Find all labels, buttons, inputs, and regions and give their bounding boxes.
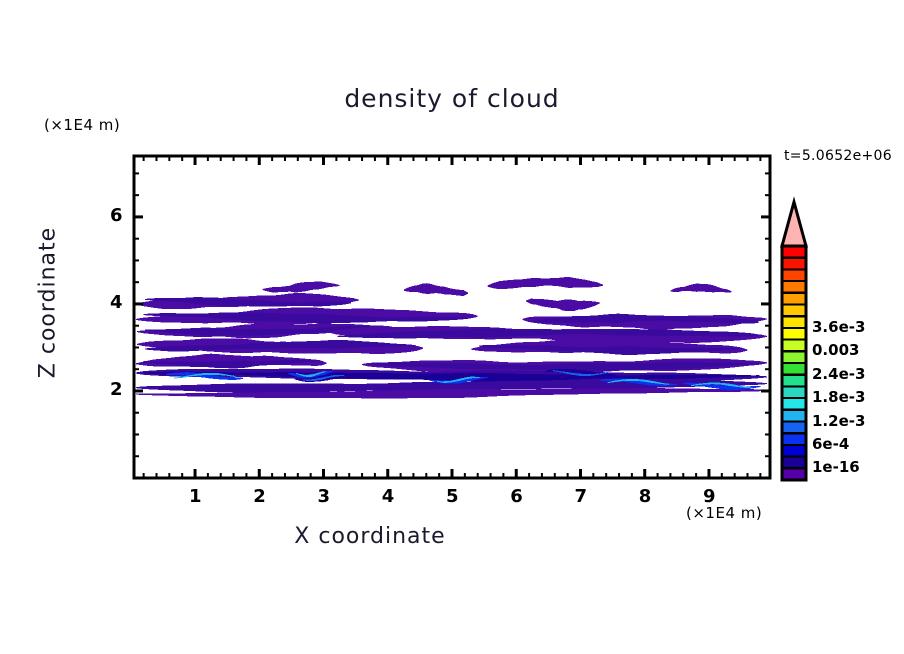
x-tick-label: 9	[703, 486, 716, 507]
x-tick-label: 4	[382, 486, 395, 507]
y-tick-label: 2	[110, 379, 123, 400]
x-tick-label: 2	[253, 486, 266, 507]
colorbar-tick-label: 1e-16	[812, 458, 860, 476]
x-tick-label: 8	[639, 486, 652, 507]
colorbar-tick-label: 1.8e-3	[812, 388, 865, 406]
colorbar-tick-label: 1.2e-3	[812, 412, 865, 430]
y-tick-label: 6	[110, 205, 123, 226]
colorbar-tick-label: 2.4e-3	[812, 365, 865, 383]
x-tick-label: 7	[574, 486, 587, 507]
x-tick-label: 1	[189, 486, 202, 507]
colorbar-tick-label: 3.6e-3	[812, 318, 865, 336]
colorbar-tick-label: 6e-4	[812, 435, 849, 453]
x-tick-label: 5	[446, 486, 459, 507]
y-tick-label: 4	[110, 292, 123, 313]
figure-canvas: density of cloud (×1E4 m) (×1E4 m) t=5.0…	[0, 0, 904, 654]
x-tick-label: 6	[510, 486, 523, 507]
contour-plot	[0, 0, 904, 654]
x-tick-label: 3	[318, 486, 331, 507]
colorbar-tick-label: 0.003	[812, 341, 859, 359]
colorbar[interactable]	[782, 202, 806, 481]
